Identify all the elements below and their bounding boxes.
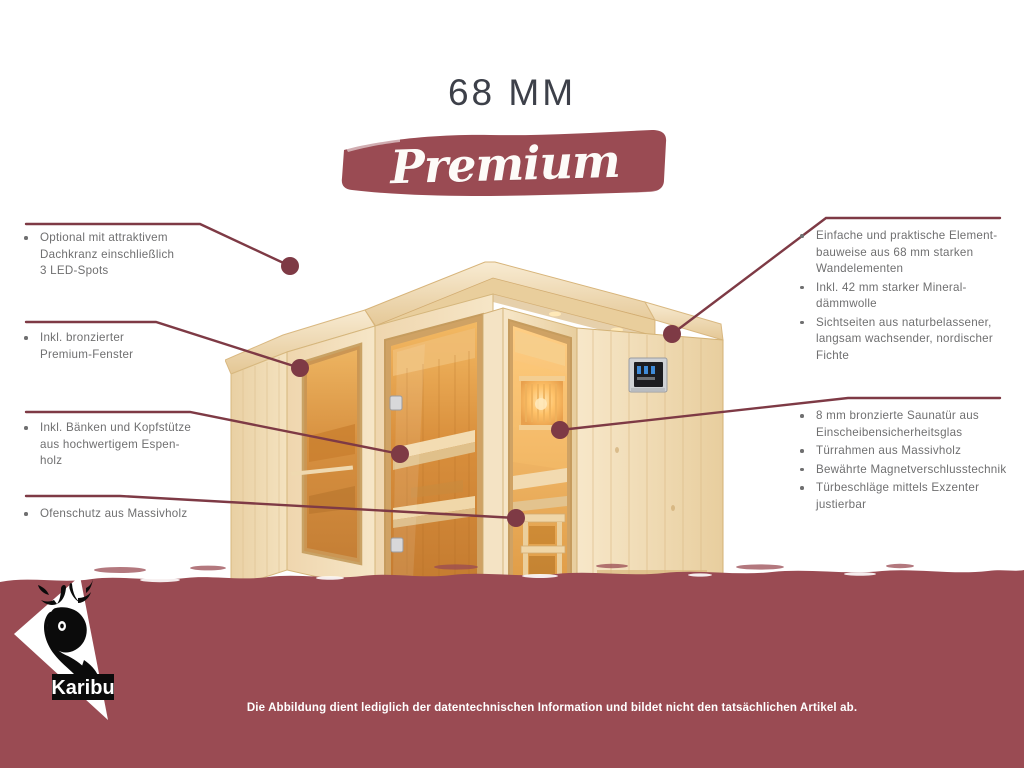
list-item: Türbeschläge mittels Exzenter justierbar [798, 480, 1020, 513]
callout-roof-crown: Optional mit attraktivem Dachkranz einsc… [22, 230, 237, 282]
bullet-list: Inkl. bronzierter Premium-Fenster [22, 330, 237, 363]
bullet-line: 8 mm bronzierte Saunatür aus [816, 409, 979, 422]
callout-door-details: 8 mm bronzierte Saunatür aus Einscheiben… [798, 408, 1020, 515]
callout-heater-guard: Ofenschutz aus Massivholz [22, 506, 237, 525]
logo-wordmark: Karibu [51, 677, 114, 699]
bullet-line: Einscheibensicherheitsglas [816, 426, 962, 439]
sauna-cabin-illustration [225, 240, 725, 610]
left-side-wall [231, 352, 287, 588]
bullet-line: holz [40, 454, 62, 467]
premium-ribbon: Premium [340, 128, 670, 200]
bullet-line: Sichtseiten aus naturbelassener, [816, 316, 992, 329]
bullet-list: Optional mit attraktivem Dachkranz einsc… [22, 230, 237, 280]
list-item: Inkl. Bänken und Kopfstütze aus hochwert… [22, 420, 237, 470]
bullet-line: Premium-Fenster [40, 348, 133, 361]
list-item: Bewährte Magnetverschlusstechnik [798, 462, 1020, 479]
list-item: 8 mm bronzierte Saunatür aus Einscheiben… [798, 408, 1020, 441]
bullet-line: dämmwolle [816, 297, 877, 310]
bullet-line: Inkl. 42 mm starker Mineral- [816, 281, 967, 294]
bullet-list: 8 mm bronzierte Saunatür aus Einscheiben… [798, 408, 1020, 513]
infographic-canvas: 68 MM Premium [0, 0, 1024, 768]
page-title: 68 MM [0, 72, 1024, 114]
sauna-control-panel [629, 358, 667, 392]
bullet-line: justierbar [816, 498, 866, 511]
callout-wall-elements: Einfache und praktische Element- bauweis… [798, 228, 1020, 366]
glass-sauna-door [375, 294, 493, 600]
bullet-line: Optional mit attraktivem [40, 231, 168, 244]
bullet-line: bauweise aus 68 mm starken [816, 246, 973, 259]
bullet-line: Inkl. bronzierter [40, 331, 124, 344]
bullet-line: Einfache und praktische Element- [816, 229, 997, 242]
list-item: Ofenschutz aus Massivholz [22, 506, 237, 523]
led-spot-icon [549, 312, 561, 317]
list-item: Optional mit attraktivem Dachkranz einsc… [22, 230, 237, 280]
bullet-line: Türrahmen aus Massivholz [816, 444, 961, 457]
bullet-list: Ofenschutz aus Massivholz [22, 506, 237, 523]
callout-premium-window: Inkl. bronzierter Premium-Fenster [22, 330, 237, 365]
list-item: Inkl. bronzierter Premium-Fenster [22, 330, 237, 363]
brand-logo: Karibu [12, 568, 172, 728]
ribbon-label: Premium [339, 123, 671, 204]
door-hinge [391, 538, 403, 552]
bullet-line: Ofenschutz aus Massivholz [40, 507, 187, 520]
bullet-line: Inkl. Bänken und Kopfstütze [40, 421, 191, 434]
bullet-line: Wandelementen [816, 262, 903, 275]
bullet-list: Einfache und praktische Element- bauweis… [798, 228, 1020, 364]
bullet-line: Dachkranz einschließlich [40, 248, 174, 261]
list-item: Türrahmen aus Massivholz [798, 443, 1020, 460]
bullet-list: Inkl. Bänken und Kopfstütze aus hochwert… [22, 420, 237, 470]
bullet-line: Bewährte Magnetverschlusstechnik [816, 463, 1006, 476]
bullet-line: 3 LED-Spots [40, 264, 108, 277]
list-item: Inkl. 42 mm starker Mineral- dämmwolle [798, 280, 1020, 313]
bullet-line: Türbeschläge mittels Exzenter [816, 481, 979, 494]
bullet-line: Fichte [816, 349, 849, 362]
premium-window-panel [287, 326, 375, 590]
bullet-line: langsam wachsender, nordischer [816, 332, 993, 345]
bullet-line: aus hochwertigem Espen- [40, 438, 180, 451]
callout-benches: Inkl. Bänken und Kopfstütze aus hochwert… [22, 420, 237, 472]
door-handle [390, 396, 402, 410]
list-item: Sichtseiten aus naturbelassener, langsam… [798, 315, 1020, 365]
list-item: Einfache und praktische Element- bauweis… [798, 228, 1020, 278]
